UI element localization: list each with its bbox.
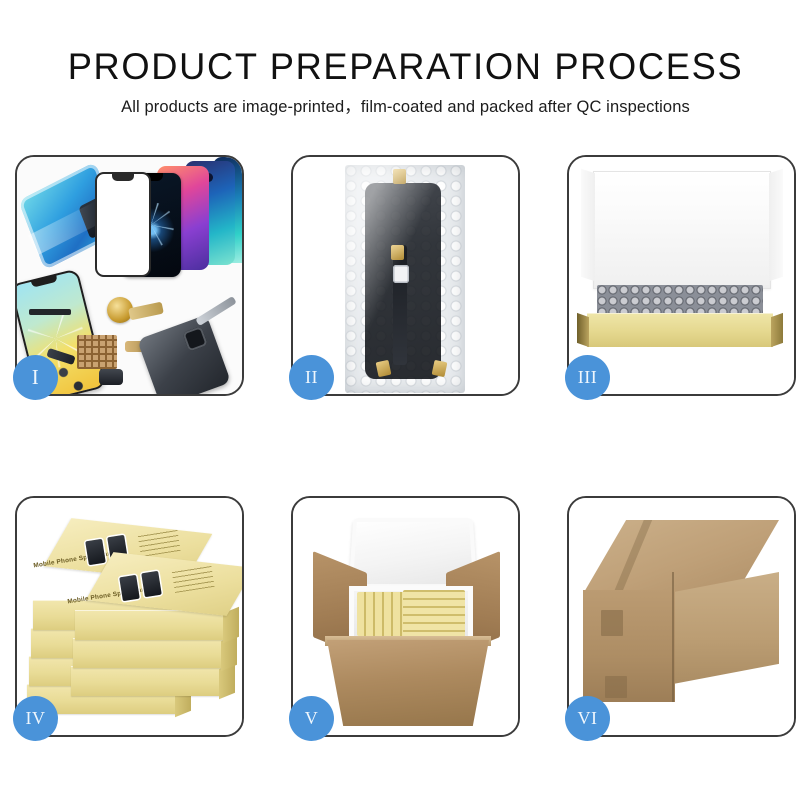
glass-screen-panel: [95, 172, 151, 277]
carton-tape-mark-top: [601, 610, 623, 636]
step-3-image: [569, 157, 794, 394]
gold-contact-tab-1: [393, 169, 406, 184]
step-6-image: [569, 498, 794, 735]
step-badge-5: V: [289, 696, 334, 741]
step-2-image: [293, 157, 518, 394]
step-badge-3: III: [565, 355, 610, 400]
product-preparation-infographic: PRODUCT PREPARATION PROCESS All products…: [0, 0, 811, 811]
part-flex-cable-1: [128, 302, 164, 321]
wrapped-flex-cable: [393, 245, 407, 365]
retail-box-thumbnail-2a: [119, 575, 140, 601]
step-badge-4: IV: [13, 696, 58, 741]
header: PRODUCT PREPARATION PROCESS All products…: [0, 0, 811, 118]
tweezer-tool-icon: [195, 296, 237, 326]
retail-box-front-3: [73, 638, 223, 668]
gold-contact-tab-3: [376, 360, 392, 377]
retail-box-thumbnail-2b: [141, 571, 162, 597]
gold-contact-tab-4: [432, 360, 448, 377]
part-connector-bar: [29, 309, 71, 315]
retail-box-thumbnail-1a: [85, 539, 106, 565]
step-badge-2: II: [289, 355, 334, 400]
step-1-image: [17, 157, 242, 394]
part-phone-back-housing: [137, 315, 231, 394]
sealed-carton-corner-edge: [672, 572, 674, 702]
step-5-image: [293, 498, 518, 735]
process-step-card-3[interactable]: III: [567, 155, 796, 396]
yellow-box-base: [587, 313, 773, 347]
yellow-boxes-row-2: [403, 590, 465, 638]
white-foam-insert: [595, 201, 769, 285]
process-step-grid: I II: [15, 155, 796, 737]
retail-box-front-2: [75, 610, 225, 640]
stacked-retail-boxes: Mobile Phone Spare Parts Mobile Phone Sp…: [23, 516, 237, 720]
step-badge-1: I: [13, 355, 58, 400]
page-title: PRODUCT PREPARATION PROCESS: [8, 46, 803, 88]
process-step-card-2[interactable]: II: [291, 155, 520, 396]
step-4-image: Mobile Phone Spare Parts Mobile Phone Sp…: [17, 498, 242, 735]
wrapped-connector-chip: [393, 265, 409, 283]
process-step-card-5[interactable]: V: [291, 496, 520, 737]
sealed-carton-side-left: [583, 590, 675, 702]
carton-tape-mark-bottom: [605, 676, 627, 698]
bubble-wrap-package: [345, 165, 465, 393]
part-speaker-module: [99, 369, 123, 385]
part-chip-grid: [77, 335, 117, 369]
process-step-card-4[interactable]: Mobile Phone Spare Parts Mobile Phone Sp…: [15, 496, 244, 737]
carton-body-open: [327, 640, 489, 726]
retail-box-front-4: [71, 666, 221, 696]
step-badge-6: VI: [565, 696, 610, 741]
process-step-card-6[interactable]: VI: [567, 496, 796, 737]
gold-contact-tab-2: [391, 245, 404, 260]
page-subtitle: All products are image-printed，film-coat…: [0, 97, 811, 118]
process-step-card-1[interactable]: I: [15, 155, 244, 396]
